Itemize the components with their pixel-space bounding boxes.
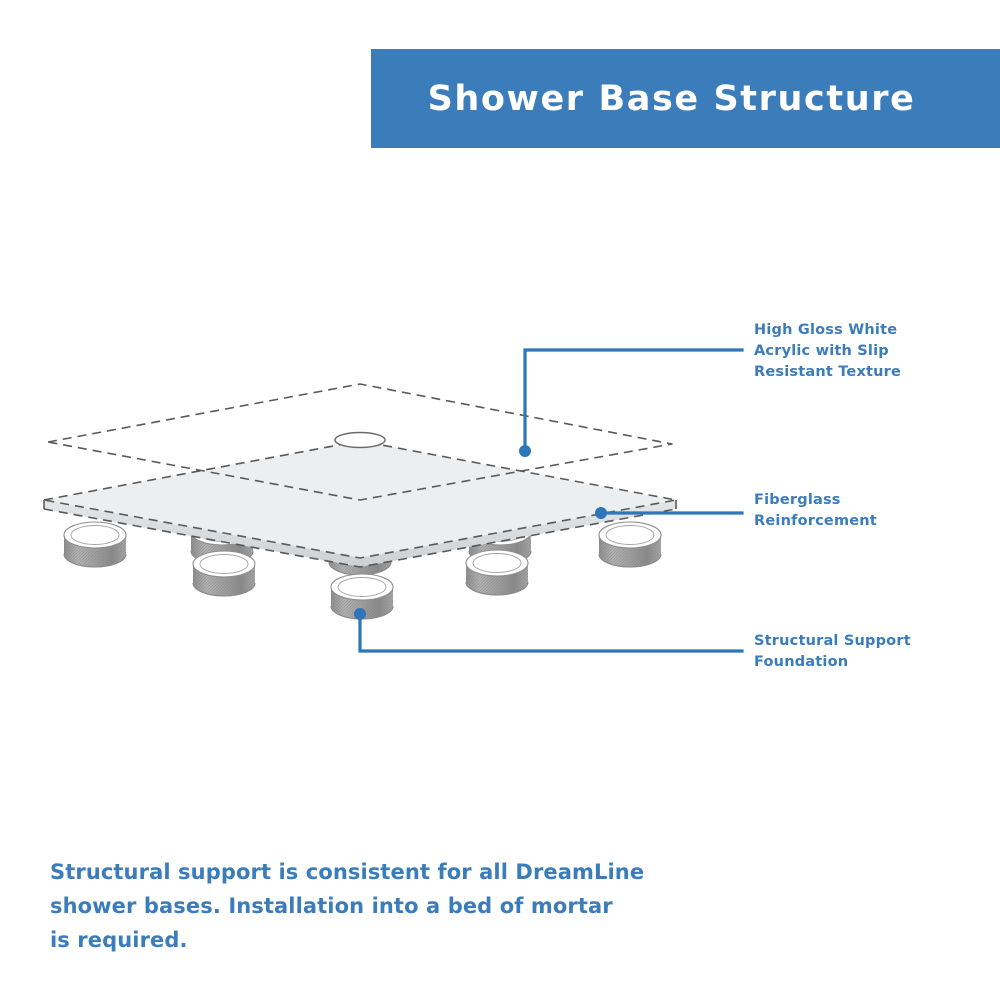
callout-support-line-2: Foundation: [754, 652, 984, 673]
callout-acrylic: High Gloss White Acrylic with Slip Resis…: [754, 320, 984, 383]
fiberglass-slab-layer: [44, 441, 676, 567]
support-ring: [331, 574, 393, 619]
drain-ellipse: [335, 433, 385, 448]
footer-caption-line-3: is required.: [50, 923, 690, 957]
leader-fiberglass: [595, 507, 742, 519]
support-ring: [599, 522, 661, 567]
callout-support: Structural Support Foundation: [754, 631, 984, 673]
footer-caption: Structural support is consistent for all…: [50, 855, 690, 957]
support-ring: [329, 530, 391, 575]
leader-lines: [354, 350, 742, 651]
page-title: Shower Base Structure: [371, 79, 972, 119]
footer-caption-line-1: Structural support is consistent for all…: [50, 855, 690, 889]
leader-acrylic: [519, 350, 742, 457]
page-root: Shower Base Structure: [0, 0, 1000, 1000]
support-ring: [466, 550, 528, 595]
callout-acrylic-line-2: Acrylic with Slip: [754, 341, 984, 362]
structural-support-rings: [64, 519, 661, 619]
callout-acrylic-line-3: Resistant Texture: [754, 362, 984, 383]
header-banner: Shower Base Structure: [371, 49, 1000, 148]
leader-support: [354, 608, 742, 651]
callout-fiberglass-line-1: Fiberglass: [754, 490, 984, 511]
support-ring: [64, 522, 126, 567]
callout-fiberglass: Fiberglass Reinforcement: [754, 490, 984, 532]
support-ring: [191, 519, 253, 564]
support-ring: [193, 551, 255, 596]
callout-acrylic-line-1: High Gloss White: [754, 320, 984, 341]
callout-fiberglass-line-2: Reinforcement: [754, 511, 984, 532]
callout-support-line-1: Structural Support: [754, 631, 984, 652]
support-ring: [469, 519, 531, 564]
acrylic-top-layer: [48, 384, 672, 500]
footer-caption-line-2: shower bases. Installation into a bed of…: [50, 889, 690, 923]
